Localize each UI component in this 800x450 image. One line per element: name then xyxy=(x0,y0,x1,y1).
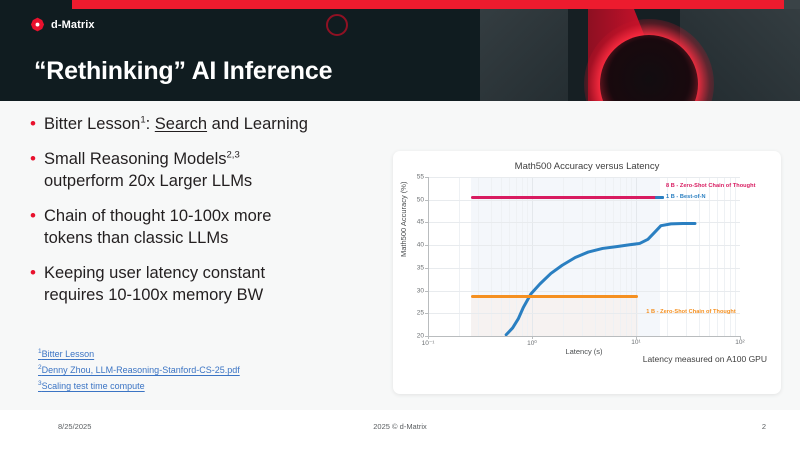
bullet-marker: • xyxy=(30,113,44,135)
header-accent-bar xyxy=(72,0,784,9)
bullet-text-line2: requires 10-100x memory BW xyxy=(44,286,263,304)
bullet-text-line1: Small Reasoning Models xyxy=(44,150,227,168)
chart-legend-swatch xyxy=(655,196,664,199)
footnote-ref: 2,3 xyxy=(227,150,240,161)
chart-y-tick-label: 25 xyxy=(417,310,424,317)
reference-label: Bitter Lesson xyxy=(42,349,95,359)
bullet-text-line1: Chain of thought 10-100x more xyxy=(44,207,271,225)
header-decorative-art xyxy=(480,9,800,101)
chart-title: Math500 Accuracy versus Latency xyxy=(393,161,781,172)
reference-link-3[interactable]: 3Scaling test time compute xyxy=(38,378,240,394)
bullet-item-chain-of-thought: • Chain of thought 10-100x moretokens th… xyxy=(30,205,400,249)
reference-label: Denny Zhou, LLM-Reasoning-Stanford-CS-25… xyxy=(42,365,240,375)
bullet-text-line1: Keeping user latency constant xyxy=(44,264,265,282)
bullet-text-emphasis: Search xyxy=(155,115,207,133)
chart-series-line xyxy=(471,196,660,199)
bullet-text: Bitter Lesson1: Search and Learning xyxy=(44,113,308,135)
bullet-text-line2: tokens than classic LLMs xyxy=(44,229,228,247)
footer-page-number: 2 xyxy=(762,422,766,431)
bullet-marker: • xyxy=(30,262,44,306)
bullet-text: Keeping user latency constantrequires 10… xyxy=(44,262,265,306)
bullet-item-user-latency: • Keeping user latency constantrequires … xyxy=(30,262,400,306)
slide-body: • Bitter Lesson1: Search and Learning • … xyxy=(0,101,800,410)
chart-y-tick-label: 30 xyxy=(417,287,424,294)
chart-series-annotation: 1 B - Zero-Shot Chain of Thought xyxy=(646,309,736,315)
reference-link-2[interactable]: 2Denny Zhou, LLM-Reasoning-Stanford-CS-2… xyxy=(38,362,240,378)
bullet-text-line2: outperform 20x Larger LLMs xyxy=(44,172,252,190)
brand-logo-text: d-Matrix xyxy=(51,19,95,31)
chart-y-tick-label: 50 xyxy=(417,196,424,203)
bullet-marker: • xyxy=(30,205,44,249)
chart-series-curve xyxy=(463,203,775,362)
chart-gridline-horizontal xyxy=(428,177,740,178)
slide-header: d-Matrix “Rethinking” AI Inference xyxy=(0,0,800,101)
bullet-text-part: Bitter Lesson xyxy=(44,115,140,133)
chart-series-annotation: 1 B - Best-of-N xyxy=(666,194,706,200)
bullet-text: Chain of thought 10-100x moretokens than… xyxy=(44,205,271,249)
chart-y-tick-label: 40 xyxy=(417,242,424,249)
chart-x-tick-label: 10⁻¹ xyxy=(422,339,435,347)
chart-x-axis xyxy=(428,336,740,337)
chart-y-tick-label: 35 xyxy=(417,264,424,271)
bullet-text-part: : xyxy=(146,115,155,133)
reference-link-1[interactable]: 1Bitter Lesson xyxy=(38,346,240,362)
bullet-text-part: and Learning xyxy=(207,115,308,133)
page-title: “Rethinking” AI Inference xyxy=(34,57,332,86)
footer-copyright: 2025 © d-Matrix xyxy=(0,422,800,431)
header-circle-icon xyxy=(326,14,348,36)
chart-y-tick-label: 55 xyxy=(417,174,424,181)
chart-footnote: Latency measured on A100 GPU xyxy=(393,354,781,364)
chart-gridline-vertical xyxy=(459,177,460,336)
chart-y-axis xyxy=(428,177,429,336)
header-accent-bar-cap xyxy=(784,0,800,9)
slide: d-Matrix “Rethinking” AI Inference • Bit… xyxy=(0,0,800,450)
reference-label: Scaling test time compute xyxy=(42,381,145,391)
chart-y-tick-label: 45 xyxy=(417,219,424,226)
bullet-item-small-reasoning-models: • Small Reasoning Models2,3outperform 20… xyxy=(30,148,400,192)
bullet-list: • Bitter Lesson1: Search and Learning • … xyxy=(30,113,400,319)
bullet-text: Small Reasoning Models2,3outperform 20x … xyxy=(44,148,252,192)
chart-card: Math500 Accuracy versus Latency Math500 … xyxy=(393,151,781,394)
chart-y-axis-label: Math500 Accuracy (%) xyxy=(399,182,408,257)
chart-series-annotation: 8 B - Zero-Shot Chain of Thought xyxy=(666,183,756,189)
slide-footer: 8/25/2025 2025 © d-Matrix 2 xyxy=(0,410,800,450)
reference-links: 1Bitter Lesson 2Denny Zhou, LLM-Reasonin… xyxy=(38,346,240,394)
d-matrix-hexagon-icon xyxy=(30,17,45,32)
chart-series-line xyxy=(471,295,638,298)
bullet-marker: • xyxy=(30,148,44,192)
bullet-item-bitter-lesson: • Bitter Lesson1: Search and Learning xyxy=(30,113,400,135)
brand-logo: d-Matrix xyxy=(30,17,95,32)
